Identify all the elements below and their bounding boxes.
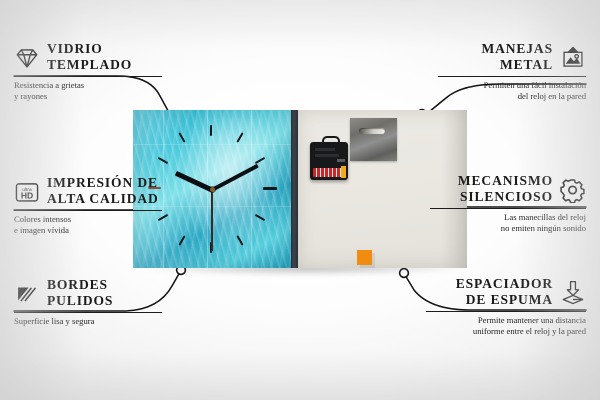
callout-desc: Resistencia a grietas y rayones <box>14 80 184 101</box>
callout-title: IMPRESIÓN DEALTA CALIDAD <box>47 176 159 207</box>
callout-rule <box>426 311 586 312</box>
callout-bordes-pulidos: BORDESPULIDOS Superficie lisa y segura <box>14 278 189 327</box>
diamond-icon <box>14 45 40 71</box>
svg-text:HD: HD <box>21 190 33 200</box>
hour-marker <box>263 187 277 190</box>
callout-rule <box>430 208 586 209</box>
hour-marker <box>236 235 243 246</box>
second-hand <box>211 189 212 251</box>
callout-desc: Permiten una fácil instalación del reloj… <box>416 80 586 101</box>
callout-title: BORDESPULIDOS <box>47 278 113 309</box>
metal-hanger-plate <box>350 118 397 161</box>
callout-desc: Las manecillas del reloj no emiten ningú… <box>408 212 586 233</box>
glass-edge <box>291 110 298 268</box>
ultra-hd-icon: ultra HD <box>14 179 40 205</box>
callout-manejas-metal: MANEJASMETAL Permiten una fácil instalac… <box>416 42 586 102</box>
callout-title: ESPACIADORDE ESPUMA <box>456 277 553 308</box>
hour-marker <box>178 132 185 143</box>
battery <box>313 168 345 177</box>
hour-marker <box>178 235 185 246</box>
callout-desc: Colores intensos e imagen vívida <box>14 214 196 235</box>
callout-desc: Permite mantener una distancia uniforme … <box>404 315 586 336</box>
callout-rule <box>14 312 162 313</box>
foam-spacer-icon <box>560 280 586 306</box>
callout-desc: Superficie lisa y segura <box>14 316 189 327</box>
callout-espaciador-de-espuma: ESPACIADORDE ESPUMA Permite mantener una… <box>404 277 586 337</box>
callout-title: VIDRIOTEMPLADO <box>47 42 132 73</box>
callout-vidrio-templado: VIDRIOTEMPLADO Resistencia a grietas y r… <box>14 42 184 102</box>
foam-spacer-pad <box>357 250 372 265</box>
gear-icon <box>560 177 586 203</box>
callout-rule <box>14 76 162 77</box>
infographic-canvas: VIDRIOTEMPLADO Resistencia a grietas y r… <box>0 0 600 400</box>
hour-marker <box>210 125 212 136</box>
polished-edges-icon <box>14 281 40 307</box>
hour-marker <box>255 214 266 221</box>
callout-title: MECANISMOSILENCIOSO <box>458 174 553 205</box>
callout-rule <box>14 210 162 211</box>
callout-impresion-alta-calidad: ultra HD IMPRESIÓN DEALTA CALIDAD Colore… <box>14 176 196 236</box>
callout-title: MANEJASMETAL <box>481 42 553 73</box>
callout-rule <box>438 76 586 77</box>
center-pin <box>210 187 215 192</box>
clock-movement <box>310 142 348 180</box>
hour-marker <box>236 132 243 143</box>
hanging-frame-icon <box>560 45 586 71</box>
callout-mecanismo-silencioso: MECANISMOSILENCIOSO Las manecillas del r… <box>408 174 586 234</box>
